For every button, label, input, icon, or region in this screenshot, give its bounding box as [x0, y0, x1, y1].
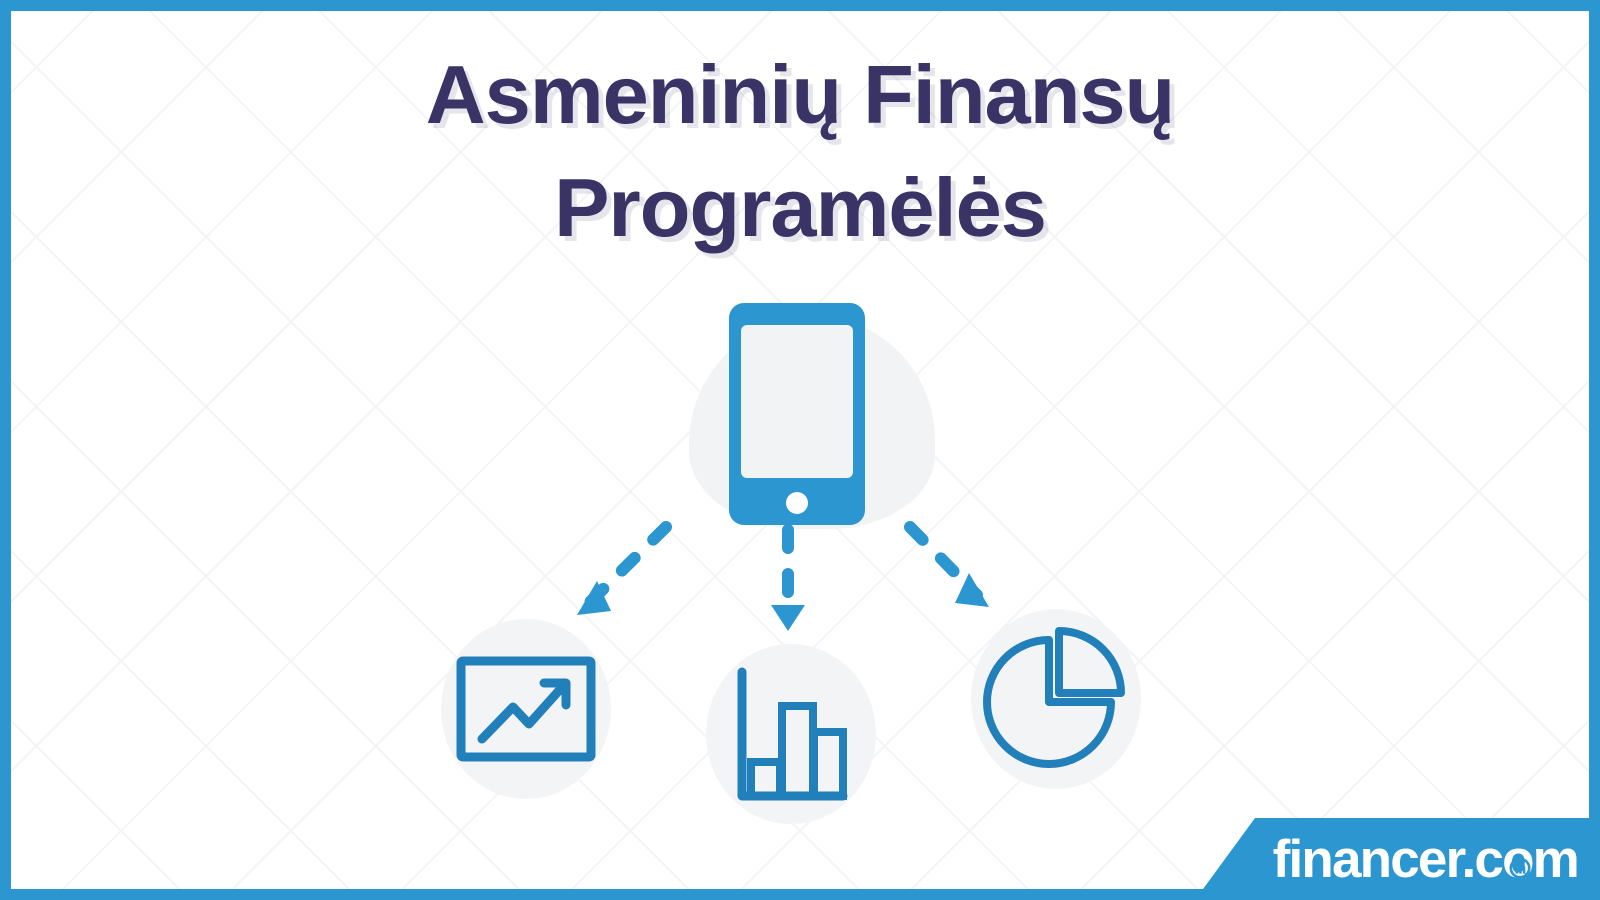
- magnifier-bar-chart-icon: [1509, 857, 1536, 884]
- headline-line-1-text: Asmeninių Finansų: [402, 39, 1199, 156]
- pie-chart-icon: [971, 609, 1141, 789]
- node-bar-chart: [706, 644, 876, 824]
- mobile-phone-icon: [661, 299, 961, 549]
- poster-canvas: Asmeninių Finansų Programėlės: [11, 11, 1589, 889]
- node-pie-chart: [971, 609, 1141, 789]
- financer-logo-band[interactable]: financer.com: [1195, 818, 1600, 900]
- bar-chart-icon: [706, 644, 876, 824]
- page-title: Asmeninių Finansų Programėlės: [11, 39, 1589, 269]
- line-chart-icon: [441, 619, 611, 799]
- phone-body: [729, 303, 865, 525]
- phone-screen: [741, 325, 853, 478]
- headline-line-2: Programėlės: [11, 152, 1589, 269]
- poster-frame: Asmeninių Finansų Programėlės: [0, 0, 1600, 900]
- headline-line-2-text: Programėlės: [530, 152, 1070, 269]
- headline-line-1: Asmeninių Finansų: [11, 39, 1589, 156]
- arrow-left-icon: [577, 527, 666, 615]
- phone-home-button: [786, 492, 808, 514]
- node-line-chart: [441, 619, 611, 799]
